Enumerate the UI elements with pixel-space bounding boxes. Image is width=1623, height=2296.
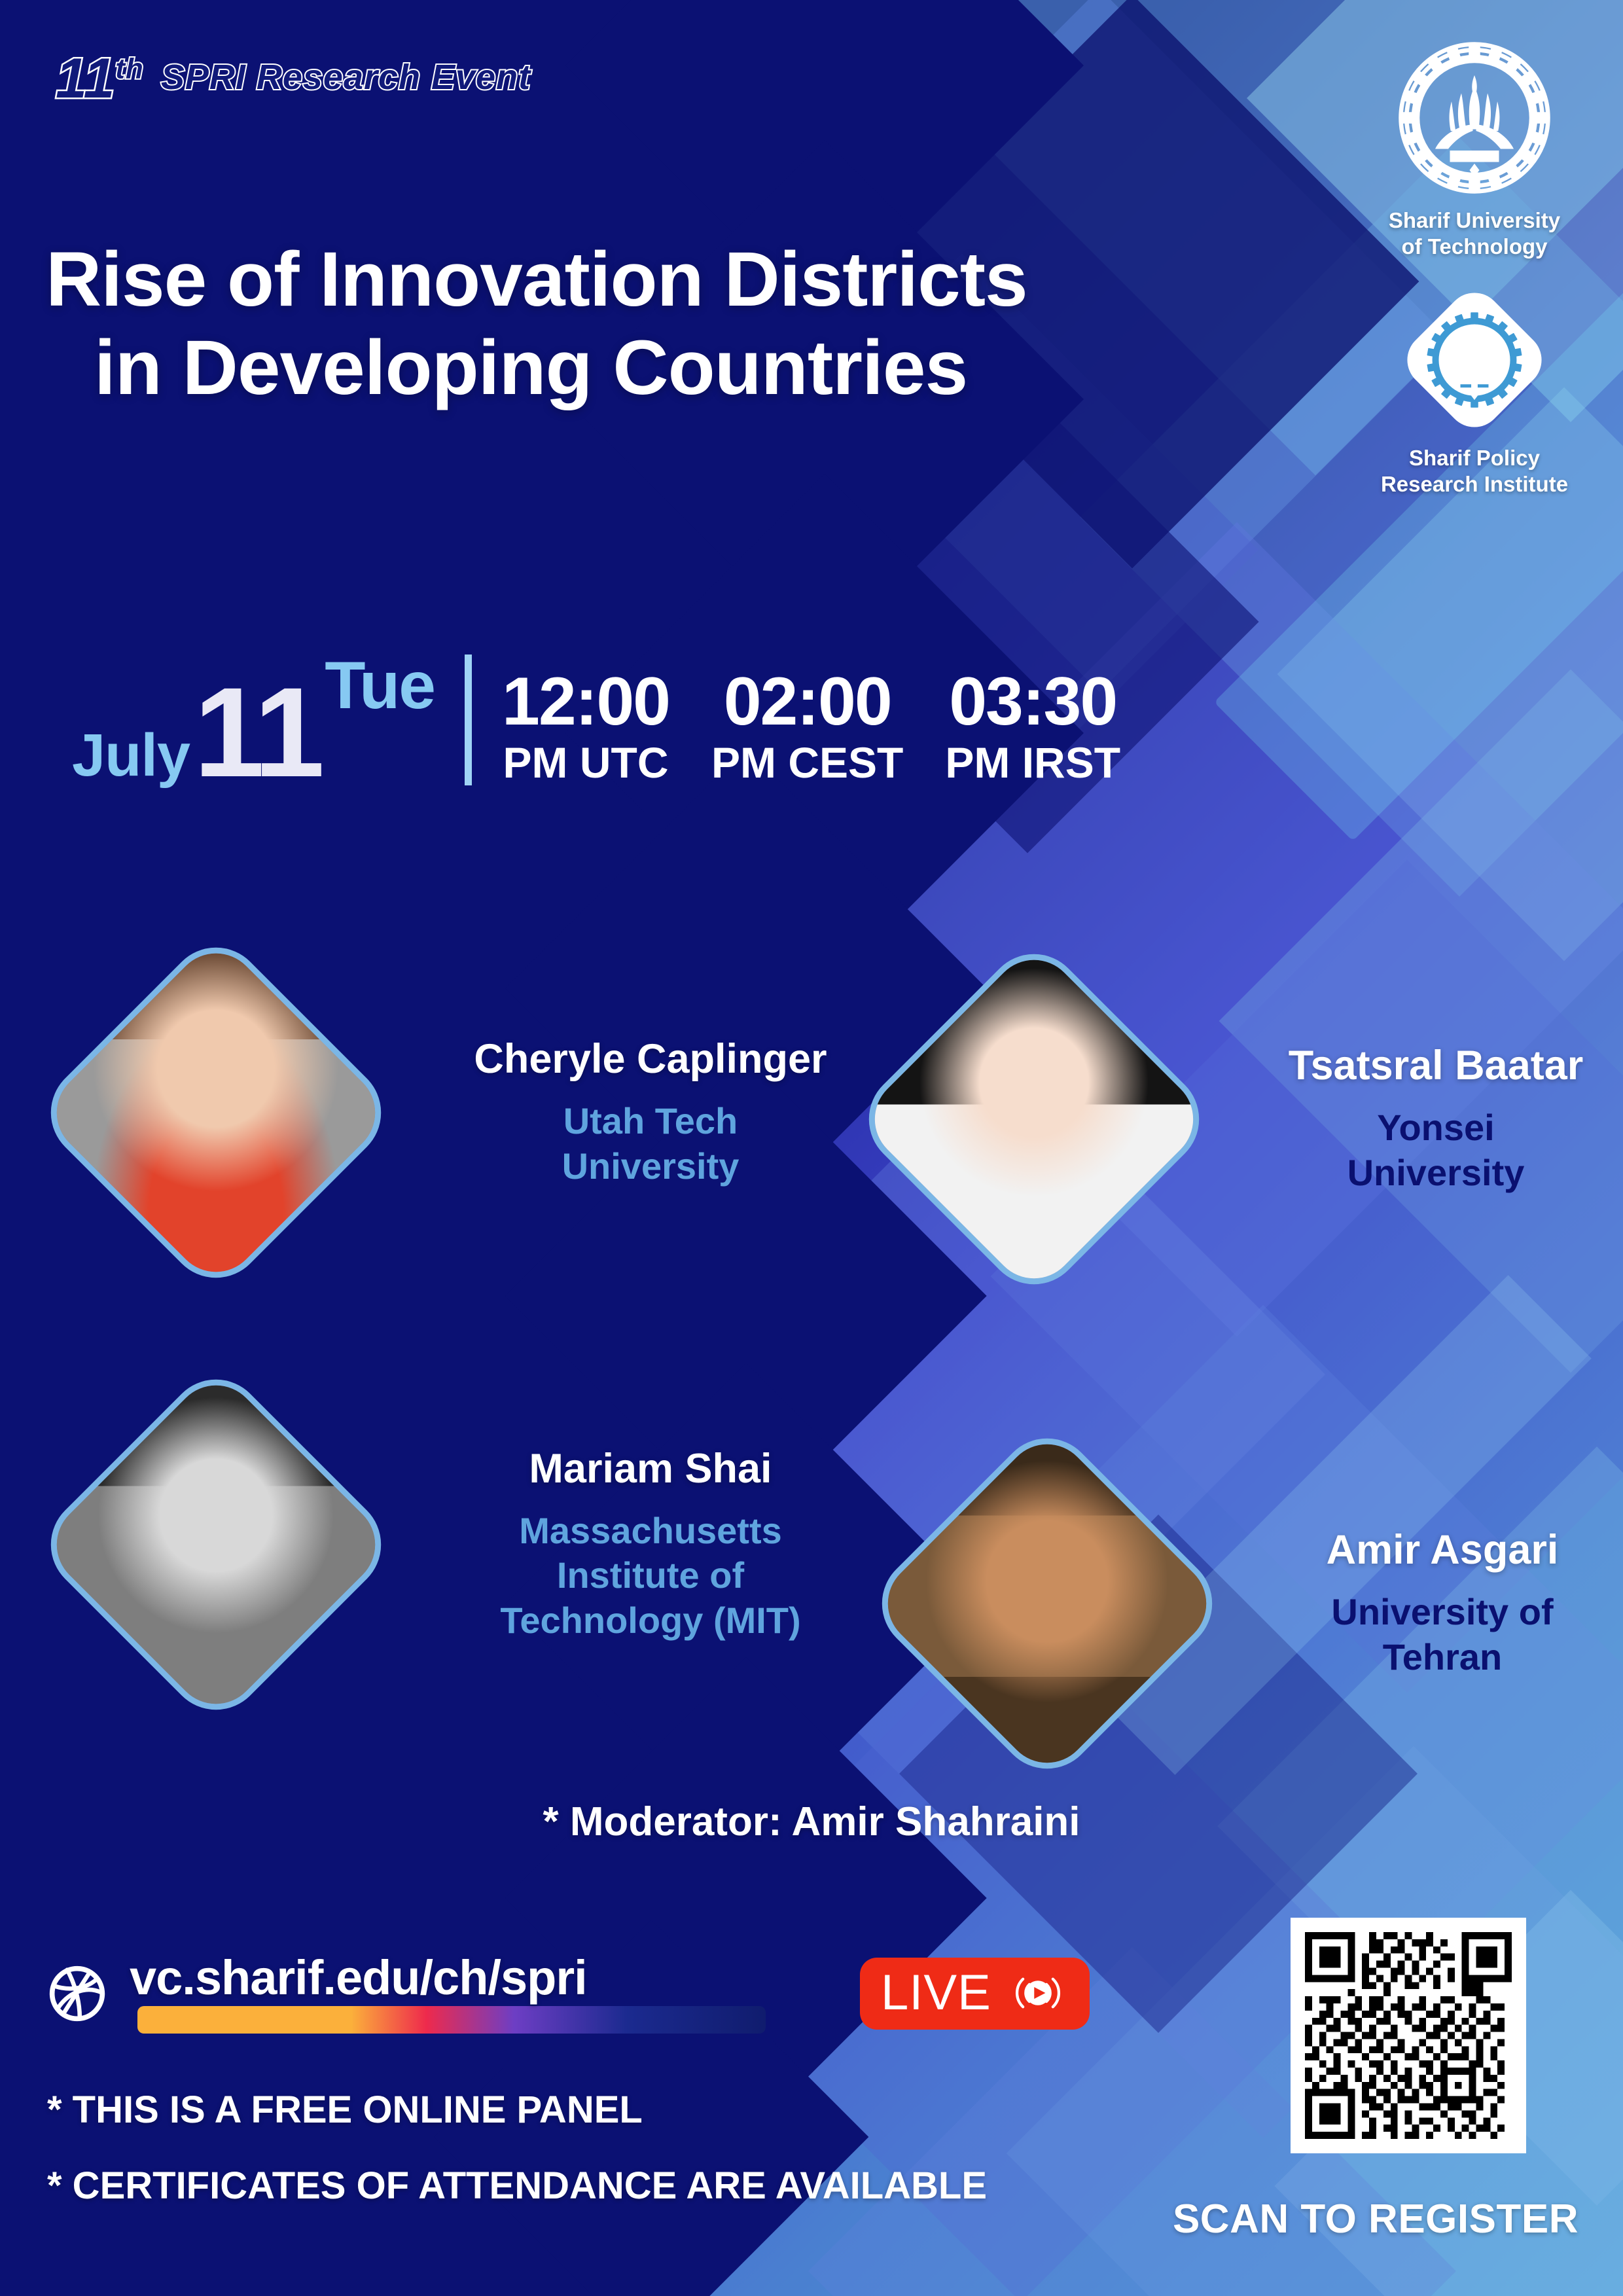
event-series-label: SPRI Research Event [161, 49, 531, 105]
timezone-cest: 02:00 PM CEST [711, 668, 903, 790]
spri-logo: Sharif Policy Research Institute [1366, 283, 1582, 498]
speaker-name: Tsatsral Baatar [1220, 1043, 1623, 1088]
event-day: 11 [194, 677, 321, 789]
speakers-section: Cheryle Caplinger Utah TechUniversity Ts… [0, 929, 1623, 1741]
speaker-affiliation: Utah TechUniversity [402, 1099, 899, 1189]
speaker-name: Mariam Shai [402, 1446, 899, 1492]
avatar [851, 936, 1217, 1302]
avatar [33, 929, 399, 1296]
speaker-name: Amir Asgari [1233, 1528, 1623, 1573]
title-line-1: Rise of Innovation Districts [46, 236, 1027, 323]
speaker-name: Cheryle Caplinger [402, 1037, 899, 1082]
speaker-affiliation: MassachusettsInstitute ofTechnology (MIT… [402, 1509, 899, 1643]
speaker-card-amir-asgari: Amir Asgari University ofTehran [864, 1420, 1623, 1787]
timezone-utc: 12:00 PM UTC [502, 668, 669, 790]
footer-note: * THIS IS A FREE ONLINE PANEL [47, 2091, 987, 2129]
speaker-affiliation: University ofTehran [1233, 1590, 1623, 1679]
logo-caption-line2: Research Institute [1366, 471, 1582, 497]
edition-suffix: th [115, 52, 144, 84]
avatar [864, 1420, 1230, 1787]
spri-caption: Sharif Policy Research Institute [1366, 445, 1582, 498]
logo-caption-line1: Sharif Policy [1366, 445, 1582, 471]
broadcast-play-icon [1006, 1969, 1070, 2017]
stream-link[interactable]: vc.sharif.edu/ch/spri [130, 1954, 766, 2034]
date-time-divider [465, 655, 472, 785]
gradient-underline [137, 2006, 766, 2034]
page-title: Rise of Innovation Districts in Developi… [46, 236, 1329, 412]
timezone-time: 02:00 [711, 668, 903, 736]
avatar [33, 1361, 399, 1728]
speaker-affiliation: YonseiUniversity [1220, 1105, 1623, 1195]
edition-number: 11th [56, 52, 144, 106]
event-month: July [72, 725, 190, 789]
footer-note: * CERTIFICATES OF ATTENDANCE ARE AVAILAB… [47, 2167, 987, 2205]
timezone-label: PM CEST [711, 736, 903, 790]
poster-canvas: 11th SPRI Research Event [0, 0, 1623, 2296]
qr-code[interactable] [1291, 1918, 1526, 2153]
live-label: LIVE [881, 1968, 991, 2018]
logo-caption-line1: Sharif University [1366, 207, 1582, 234]
link-row: vc.sharif.edu/ch/spri LIVE [47, 1954, 1090, 2034]
timezone-time: 12:00 [502, 668, 669, 736]
sharif-university-logo: Sharif University of Technology [1366, 36, 1582, 260]
qr-code-icon[interactable] [1305, 1932, 1512, 2139]
speaker-card-tsatsral-baatar: Tsatsral Baatar YonseiUniversity [851, 936, 1623, 1302]
title-line-2: in Developing Countries [46, 324, 1329, 412]
speaker-card-mariam-shai: Mariam Shai MassachusettsInstitute ofTec… [33, 1361, 899, 1728]
logo-caption-line2: of Technology [1366, 234, 1582, 260]
moderator-note: * Moderator: Amir Shahraini [0, 1799, 1623, 1845]
stream-url[interactable]: vc.sharif.edu/ch/spri [130, 1954, 766, 2002]
event-weekday: Tue [325, 652, 435, 719]
event-series-header: 11th SPRI Research Event [56, 49, 531, 105]
qr-caption: SCAN TO REGISTER [1173, 2196, 1578, 2242]
speaker-row-1: Cheryle Caplinger Utah TechUniversity Ts… [0, 929, 1623, 1335]
date-time-bar: July 11 Tue 12:00 PM UTC 02:00 PM CEST 0… [72, 655, 1120, 789]
timezone-label: PM UTC [502, 736, 669, 790]
sharif-university-caption: Sharif University of Technology [1366, 207, 1582, 260]
live-badge: LIVE [860, 1958, 1090, 2030]
dribbble-globe-icon [47, 1964, 107, 2024]
sharif-university-gear-emblem-icon [1393, 36, 1556, 200]
sharif-policy-research-institute-diamond-emblem-icon [1397, 283, 1552, 437]
timezone-label: PM IRST [945, 736, 1120, 790]
speaker-row-2: Mariam Shai MassachusettsInstitute ofTec… [0, 1335, 1623, 1741]
speaker-card-cheryle-caplinger: Cheryle Caplinger Utah TechUniversity [33, 929, 899, 1296]
timezone-time: 03:30 [945, 668, 1120, 736]
organization-logos: Sharif University of Technology [1366, 36, 1582, 497]
timezone-irst: 03:30 PM IRST [945, 668, 1120, 790]
footer-notes: * THIS IS A FREE ONLINE PANEL * CERTIFIC… [47, 2091, 987, 2205]
